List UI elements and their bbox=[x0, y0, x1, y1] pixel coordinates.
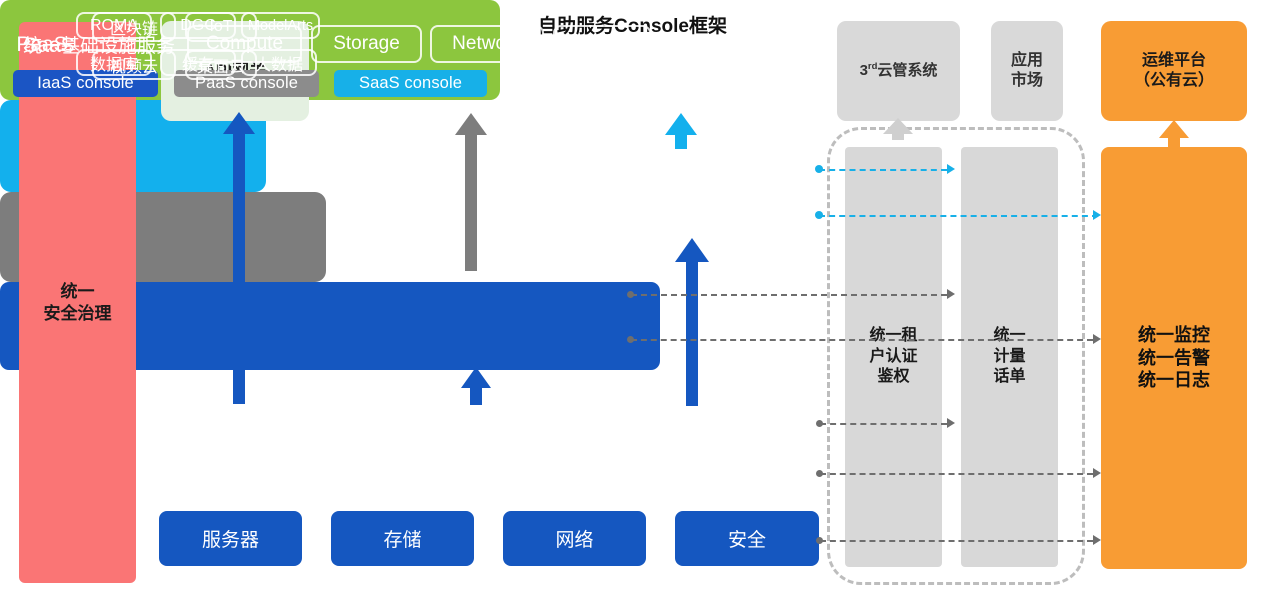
infra-service-storage[interactable]: Storage bbox=[311, 25, 422, 63]
infra-service-network[interactable]: Network bbox=[430, 25, 544, 63]
third-party-cloud-management-box[interactable]: 3rd云管系统 bbox=[837, 21, 960, 121]
infra-service-compute[interactable]: Compute bbox=[187, 25, 302, 63]
arrow-ops-column-to-platform bbox=[1158, 120, 1190, 148]
infra-connector-line-2 bbox=[820, 473, 1093, 475]
arrow-to-third-cloud bbox=[882, 118, 914, 140]
auth-column-label: 统一租 户认证 鉴权 bbox=[869, 326, 917, 388]
infra-bar-label: 统一基础设施服务 bbox=[14, 0, 184, 88]
saas-connector-arrowhead-1 bbox=[947, 164, 955, 174]
app-market-box[interactable]: 应用 市场 bbox=[991, 21, 1063, 121]
arrow-infra-to-paas bbox=[460, 367, 492, 405]
meter-column-label: 统一 计量 话单 bbox=[993, 326, 1025, 388]
paas-connector-arrowhead-2 bbox=[1093, 334, 1101, 344]
arrow-infra-to-saas bbox=[674, 238, 710, 406]
resource-connector-arrowhead bbox=[1093, 535, 1101, 545]
paas-connector-line-2 bbox=[631, 339, 1093, 341]
resource-box-storage[interactable]: 存储 bbox=[331, 511, 474, 566]
ops-platform-box[interactable]: 运维平台 （公有云） bbox=[1101, 21, 1247, 121]
resource-box-network[interactable]: 网络 bbox=[503, 511, 646, 566]
unified-monitoring-column[interactable]: 统一监控 统一告警 统一日志 bbox=[1101, 147, 1247, 569]
resource-connector-line bbox=[820, 540, 1093, 542]
saas-connector-arrowhead-2 bbox=[1093, 210, 1101, 220]
unified-metering-billing-column[interactable]: 统一 计量 话单 bbox=[961, 147, 1058, 567]
paas-connector-line-1 bbox=[631, 294, 947, 296]
third-cloud-label: 3rd云管系统 bbox=[860, 61, 938, 81]
saas-connector-line-2 bbox=[819, 215, 1098, 217]
saas-console-chip[interactable]: SaaS console bbox=[334, 70, 487, 97]
resource-box-server[interactable]: 服务器 bbox=[159, 511, 302, 566]
arrow-infra-to-api-gateway bbox=[222, 112, 256, 404]
infra-service-cce[interactable]: CCE bbox=[553, 25, 651, 63]
security-panel-label: 统一 安全治理 bbox=[44, 281, 112, 324]
architecture-diagram: 统一 安全治理 API网关 自助服务Console框架 IaaS console… bbox=[0, 0, 1265, 605]
ops-column-label: 统一监控 统一告警 统一日志 bbox=[1138, 324, 1210, 392]
unified-security-governance-panel[interactable]: 统一 安全治理 bbox=[19, 22, 136, 583]
app-market-label: 应用 市场 bbox=[1011, 51, 1043, 91]
saas-connector-line-1 bbox=[819, 169, 947, 171]
unified-tenant-auth-column[interactable]: 统一租 户认证 鉴权 bbox=[845, 147, 942, 567]
arrow-saas-to-console bbox=[664, 113, 698, 149]
ops-platform-label: 运维平台 （公有云） bbox=[1134, 51, 1214, 91]
infra-connector-line-1 bbox=[820, 423, 947, 425]
infra-connector-arrowhead-2 bbox=[1093, 468, 1101, 478]
arrow-paas-to-console bbox=[454, 113, 488, 271]
resource-box-security[interactable]: 安全 bbox=[675, 511, 819, 566]
infra-connector-arrowhead-1 bbox=[947, 418, 955, 428]
paas-connector-arrowhead-1 bbox=[947, 289, 955, 299]
